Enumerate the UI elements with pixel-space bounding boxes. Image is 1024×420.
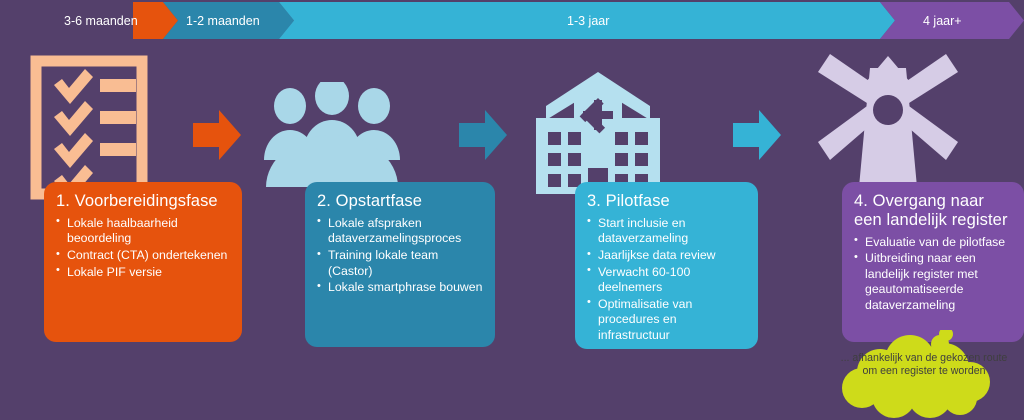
- list-item: Lokale haalbaarheid beoordeling: [56, 216, 230, 247]
- timeline-segment-3: [279, 2, 895, 39]
- list-item: Start inclusie en dataverzameling: [587, 216, 746, 247]
- windmill-icon: [814, 48, 962, 198]
- list-item: Lokale PIF versie: [56, 265, 230, 281]
- phase-card-4-bullets: Evaluatie van de pilotfase Uitbreiding n…: [854, 235, 1012, 314]
- list-item: Verwacht 60-100 deelnemers: [587, 265, 746, 296]
- list-item: Jaarlijkse data review: [587, 248, 746, 264]
- phase-card-1[interactable]: 1. Voorbereidingsfase Lokale haalbaarhei…: [44, 182, 242, 342]
- list-item: Optimalisatie van procedures en infrastr…: [587, 297, 746, 344]
- phase-card-2-title: 2. Opstartfase: [317, 192, 483, 211]
- list-item: Lokale afspraken dataverzamelingsproces: [317, 216, 483, 247]
- list-item: Contract (CTA) ondertekenen: [56, 248, 230, 264]
- phase-card-2[interactable]: 2. Opstartfase Lokale afspraken dataverz…: [305, 182, 495, 347]
- phase-card-1-bullets: Lokale haalbaarheid beoordeling Contract…: [56, 216, 230, 280]
- team-people-icon: [262, 82, 402, 187]
- timeline-shapes: [0, 2, 1024, 39]
- phase-card-1-title: 1. Voorbereidingsfase: [56, 192, 230, 211]
- arrow-phase2-to-phase3: [459, 110, 507, 160]
- phase-card-3-title: 3. Pilotfase: [587, 192, 746, 211]
- timeline-banner: 3-6 maanden 1-2 maanden 1-3 jaar 4 jaar+: [0, 2, 1024, 39]
- cloud-callout: ... afhankelijk van de gekozen route om …: [834, 330, 1014, 420]
- list-item: Lokale smartphrase bouwen: [317, 280, 483, 296]
- list-item: Evaluatie van de pilotfase: [854, 235, 1012, 251]
- arrow-phase1-to-phase2: [193, 110, 241, 160]
- phase-card-4[interactable]: 4. Overgang naar een landelijk register …: [842, 182, 1024, 342]
- phase-card-3-bullets: Start inclusie en dataverzameling Jaarli…: [587, 216, 746, 344]
- timeline-segment-4: [880, 2, 1024, 39]
- timeline-segment-2: [163, 2, 294, 39]
- phase-card-2-bullets: Lokale afspraken dataverzamelingsproces …: [317, 216, 483, 296]
- list-item: Training lokale team (Castor): [317, 248, 483, 279]
- hospital-building-svg: [524, 72, 672, 194]
- arrow-phase3-to-phase4: [733, 110, 781, 160]
- phase-card-4-title: 4. Overgang naar een landelijk register: [854, 192, 1012, 230]
- cloud-shape: [834, 330, 1014, 420]
- list-item: Uitbreiding naar een landelijk register …: [854, 251, 1012, 313]
- team-people-svg: [262, 82, 402, 187]
- checklist-clipboard-svg: [30, 55, 148, 200]
- windmill-svg: [814, 48, 962, 198]
- arrow-phase1-to-phase2-svg: [193, 110, 241, 160]
- hospital-building-icon: [524, 72, 672, 194]
- arrow-phase2-to-phase3-svg: [459, 110, 507, 160]
- checklist-clipboard-icon: [30, 55, 148, 200]
- phase-card-3[interactable]: 3. Pilotfase Start inclusie en dataverza…: [575, 182, 758, 349]
- arrow-phase3-to-phase4-svg: [733, 110, 781, 160]
